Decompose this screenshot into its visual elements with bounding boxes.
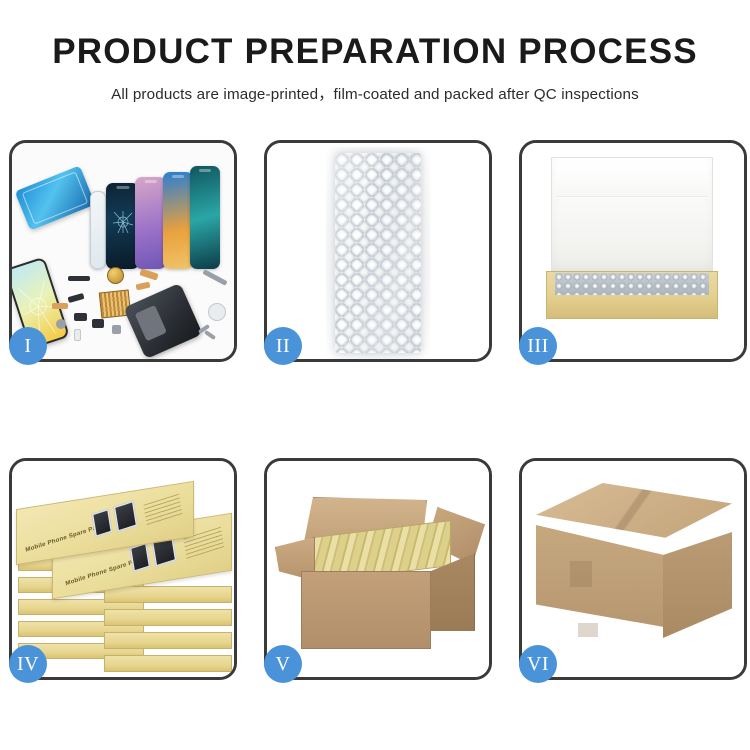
retail-box-stack-icon: Mobile Phone Spare Parts Mobile Phone Sp…	[16, 473, 234, 673]
step-badge-5: V	[264, 645, 302, 683]
notch-icon	[172, 175, 184, 178]
stacked-box	[104, 609, 232, 626]
step-5-image	[267, 461, 489, 677]
phone-screen-glass	[90, 191, 106, 269]
part-flex-cable	[139, 268, 158, 280]
step-panel-6: VI	[519, 458, 747, 680]
phone-screen-purple	[135, 177, 166, 269]
step-2-image	[267, 143, 489, 359]
step-panel-2: II	[264, 140, 492, 362]
step-panel-4: Mobile Phone Spare Parts Mobile Phone Sp…	[9, 458, 237, 680]
step-panel-3: III	[519, 140, 747, 362]
part-camera-module	[74, 313, 87, 321]
phone-screen-teal	[190, 166, 220, 269]
part-screw-set	[112, 325, 121, 334]
phone-thumbnail	[91, 508, 113, 538]
carton-front-panel	[536, 525, 664, 627]
step-badge-4: IV	[9, 645, 47, 683]
step-3-image	[522, 143, 744, 359]
infographic-page: PRODUCT PREPARATION PROCESS All products…	[0, 0, 750, 750]
bubble-wrap-sheen	[335, 153, 421, 353]
part-speaker	[56, 319, 66, 329]
part-flex-cable	[52, 303, 68, 309]
step-6-image	[522, 461, 744, 677]
notch-icon	[144, 180, 156, 183]
open-shipping-carton-icon	[281, 491, 477, 659]
carton-side-panel	[663, 532, 732, 638]
carton-hand-hole	[578, 623, 598, 637]
notch-icon	[199, 169, 211, 172]
phone-screen-orange	[163, 172, 193, 269]
gold-component-icon	[107, 267, 124, 284]
stacked-box	[104, 586, 232, 603]
spec-lines	[144, 494, 183, 526]
notch-icon	[116, 186, 129, 189]
phone-screen-fan	[88, 161, 234, 269]
phone-housing-icon	[123, 283, 202, 359]
part-flex-cable	[136, 282, 151, 291]
part-tool-head	[208, 303, 226, 321]
step-badge-2: II	[264, 327, 302, 365]
page-subtitle: All products are image-printed，film-coat…	[0, 82, 750, 104]
step-panel-5: V	[264, 458, 492, 680]
step-4-image: Mobile Phone Spare Parts Mobile Phone Sp…	[12, 461, 234, 677]
step-1-image	[12, 143, 234, 359]
crack-pattern-icon	[110, 209, 136, 235]
part-sim-tray	[74, 329, 81, 341]
part-screwdriver	[202, 269, 227, 286]
page-title: PRODUCT PREPARATION PROCESS	[0, 34, 750, 71]
part-tweezers	[204, 330, 216, 340]
part-connector	[68, 276, 90, 281]
sealed-shipping-carton-icon	[532, 483, 738, 663]
bubble-wrapped-contents-icon	[555, 273, 709, 295]
header: PRODUCT PREPARATION PROCESS All products…	[0, 0, 750, 104]
step-panel-1: I	[9, 140, 237, 362]
stacked-box	[104, 655, 232, 672]
process-steps-grid: I II III	[9, 140, 742, 680]
stacked-box	[104, 632, 232, 649]
step-badge-3: III	[519, 327, 557, 365]
part-vibrator	[92, 319, 104, 328]
part-button-flex	[67, 293, 84, 303]
step-badge-6: VI	[519, 645, 557, 683]
blue-lcd-assembly-icon	[15, 165, 96, 230]
carton-front-panel	[301, 571, 431, 649]
phone-thumbnail	[113, 500, 138, 533]
box-lid-icon	[551, 157, 713, 275]
carton-hand-hole	[570, 561, 592, 587]
bubble-wrap-bundle-icon	[335, 153, 421, 353]
step-badge-1: I	[9, 327, 47, 365]
